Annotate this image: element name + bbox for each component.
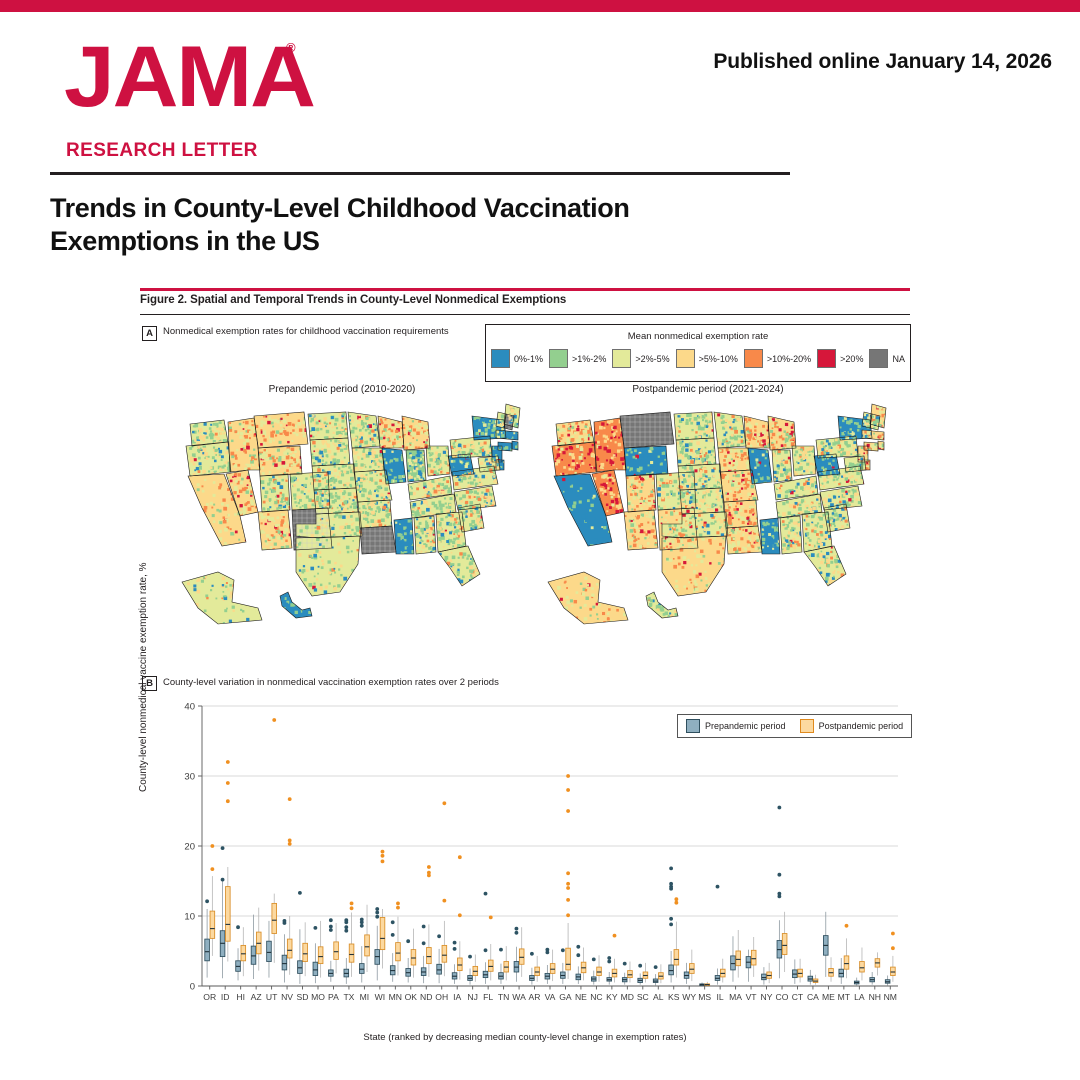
legend-label-2: >2%-5% [635,354,669,364]
legend-label-0: 0%-1% [514,354,543,364]
legend-item: >1%-2% [549,349,606,368]
top-accent-bar [0,0,1080,12]
masthead-divider [50,172,790,175]
map-title-prepandemic: Prepandemic period (2010-2020) [162,384,522,395]
legend-label-6: NA [892,354,905,364]
chart-legend-item-prepandemic: Prepandemic period [686,719,786,733]
legend-swatch-2 [612,349,631,368]
legend-label-1: >1%-2% [572,354,606,364]
panel-a-title: Nonmedical exemption rates for childhood… [163,326,453,338]
panel-a-header: ANonmedical exemption rates for childhoo… [142,326,472,344]
masthead: JAMA ® RESEARCH LETTER Published online … [0,12,1080,172]
legend-item: >5%-10% [676,349,738,368]
legend-item: >20% [817,349,863,368]
map-postpandemic [528,396,888,646]
map-legend-title: Mean nonmedical exemption rate [486,331,910,342]
legend-swatch-1 [549,349,568,368]
jama-logo: JAMA [64,34,314,120]
chart-legend-label-postpandemic: Postpandemic period [819,721,904,731]
legend-item: >10%-20% [744,349,811,368]
legend-item: NA [869,349,905,368]
legend-label-3: >5%-10% [699,354,738,364]
map-prepandemic [162,396,522,646]
map-legend: Mean nonmedical exemption rate 0%-1% >1%… [485,324,911,382]
chart-legend-item-postpandemic: Postpandemic period [800,719,904,733]
figure-2: Figure 2. Spatial and Temporal Trends in… [140,288,910,1058]
x-axis-label: State (ranked by decreasing median count… [140,1032,910,1043]
publication-date: Published online January 14, 2026 [713,50,1052,74]
boxplot-svg: 010203040ORIDHIAZUTNVSDMOPATXMIWIMNOKNDO… [140,696,910,1028]
panel-b-title: County-level variation in nonmedical vac… [163,676,499,689]
chart-legend-swatch-prepandemic [686,719,700,733]
chart-legend-swatch-postpandemic [800,719,814,733]
choropleth-maps: Prepandemic period (2010-2020) Postpande… [140,384,910,654]
boxplot-chart: County-level nonmedical vaccine exemptio… [140,696,910,1046]
legend-item: >2%-5% [612,349,669,368]
page-title: Trends in County-Level Childhood Vaccina… [50,192,770,258]
map-title-postpandemic: Postpandemic period (2021-2024) [528,384,888,395]
section-label: RESEARCH LETTER [66,140,258,162]
legend-swatch-3 [676,349,695,368]
panel-a-tag: A [142,326,157,341]
map-legend-items: 0%-1% >1%-2% >2%-5% >5%-10% >10%-20% >20… [486,349,910,368]
legend-label-4: >10%-20% [767,354,811,364]
registered-trademark-icon: ® [286,40,296,55]
chart-legend-label-prepandemic: Prepandemic period [705,721,786,731]
panel-b-header: BCounty-level variation in nonmedical va… [142,676,742,694]
legend-swatch-0 [491,349,510,368]
legend-swatch-4 [744,349,763,368]
figure-caption: Figure 2. Spatial and Temporal Trends in… [140,294,910,306]
figure-accent-rule [140,288,910,291]
chart-legend: Prepandemic period Postpandemic period [677,714,912,738]
legend-item: 0%-1% [491,349,543,368]
legend-swatch-5 [817,349,836,368]
figure-caption-divider [140,314,910,315]
legend-swatch-6 [869,349,888,368]
legend-label-5: >20% [840,354,863,364]
